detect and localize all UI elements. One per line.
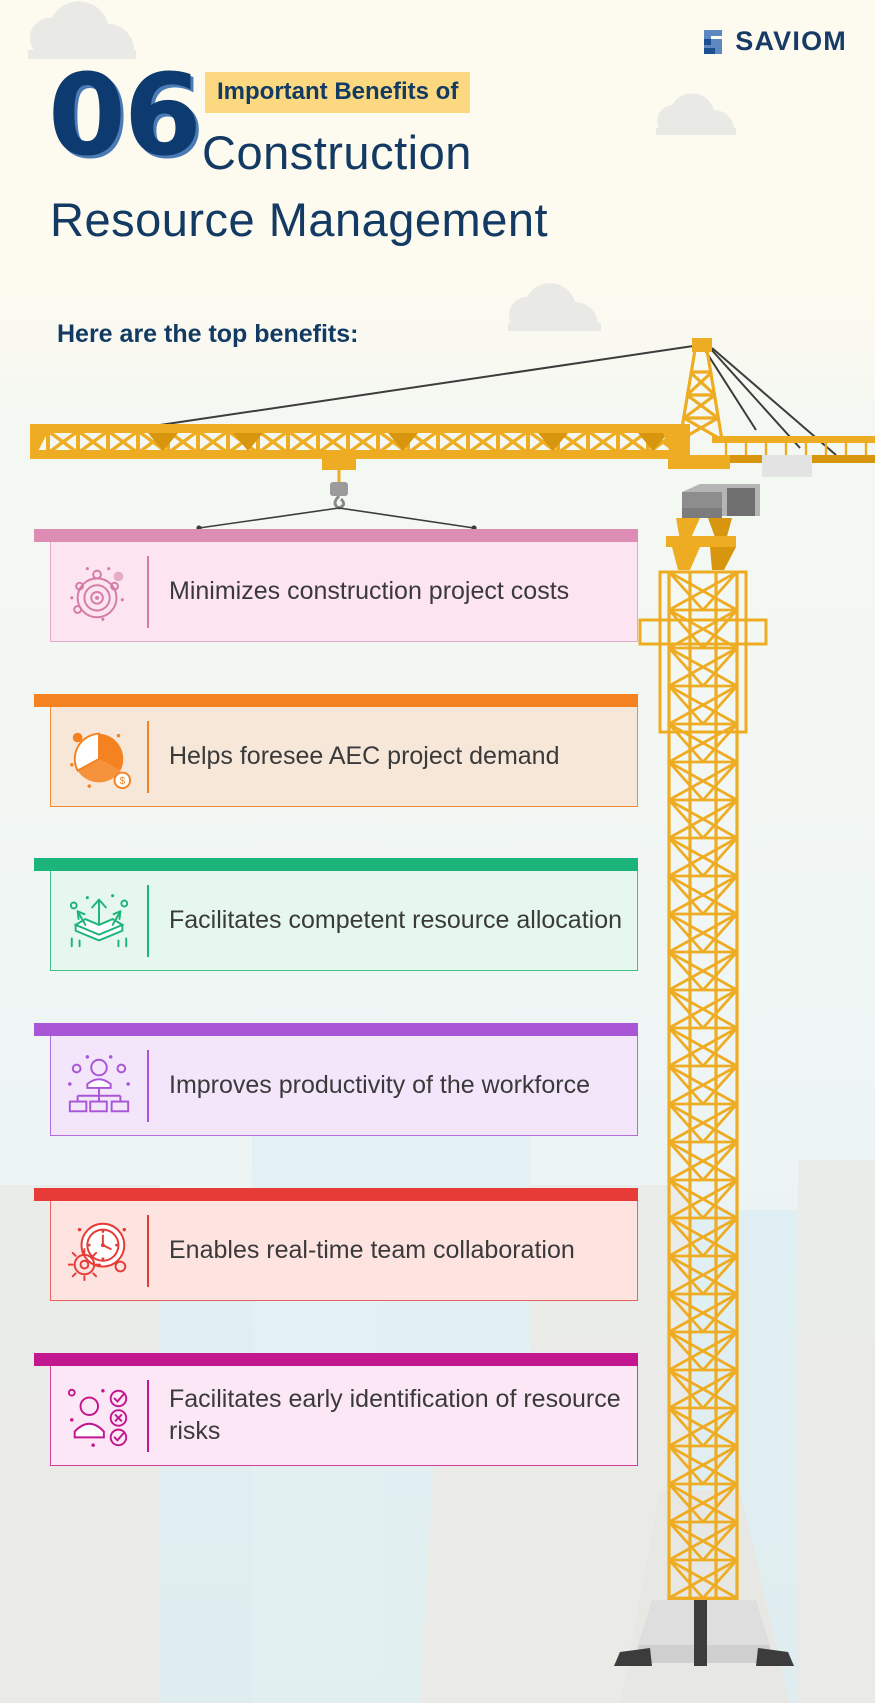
benefit-card-4-body: Improves productivity of the workforce — [50, 1036, 638, 1136]
benefit-card-3[interactable]: Facilitates competent resource allocatio… — [34, 858, 638, 971]
benefit-card-5-color-bar — [34, 1188, 638, 1201]
target-cost-icon — [51, 557, 147, 627]
benefit-card-1-text: Minimizes construction project costs — [149, 576, 581, 608]
benefit-card-2-body: $ Helps foresee AEC project demand — [50, 707, 638, 807]
benefits-list: Minimizes construction project costs $ H… — [0, 0, 875, 1703]
benefit-card-6-body: Facilitates early identification of reso… — [50, 1366, 638, 1466]
benefit-card-6[interactable]: Facilitates early identification of reso… — [34, 1353, 638, 1466]
benefit-card-5[interactable]: Enables real-time team collaboration — [34, 1188, 638, 1301]
benefit-card-1[interactable]: Minimizes construction project costs — [34, 529, 638, 642]
benefit-card-2-text: Helps foresee AEC project demand — [149, 741, 572, 773]
benefit-card-2-color-bar — [34, 694, 638, 707]
benefit-card-6-color-bar — [34, 1353, 638, 1366]
benefit-card-3-text: Facilitates competent resource allocatio… — [149, 905, 634, 937]
clock-gear-icon — [51, 1216, 147, 1286]
benefit-card-6-text: Facilitates early identification of reso… — [149, 1384, 637, 1447]
org-chart-person-icon — [51, 1051, 147, 1121]
benefit-card-5-text: Enables real-time team collaboration — [149, 1235, 587, 1267]
benefit-card-4-color-bar — [34, 1023, 638, 1036]
open-box-arrows-icon — [51, 886, 147, 956]
benefit-card-4-text: Improves productivity of the workforce — [149, 1070, 602, 1102]
benefit-card-2[interactable]: $ Helps foresee AEC project demand — [34, 694, 638, 807]
pie-chart-demand-icon: $ — [51, 722, 147, 792]
benefit-card-1-color-bar — [34, 529, 638, 542]
svg-text:$: $ — [120, 776, 126, 787]
benefit-card-4[interactable]: Improves productivity of the workforce — [34, 1023, 638, 1136]
risk-person-checklist-icon — [51, 1381, 147, 1451]
benefit-card-5-body: Enables real-time team collaboration — [50, 1201, 638, 1301]
benefit-card-3-color-bar — [34, 858, 638, 871]
benefit-card-1-body: Minimizes construction project costs — [50, 542, 638, 642]
benefit-card-3-body: Facilitates competent resource allocatio… — [50, 871, 638, 971]
